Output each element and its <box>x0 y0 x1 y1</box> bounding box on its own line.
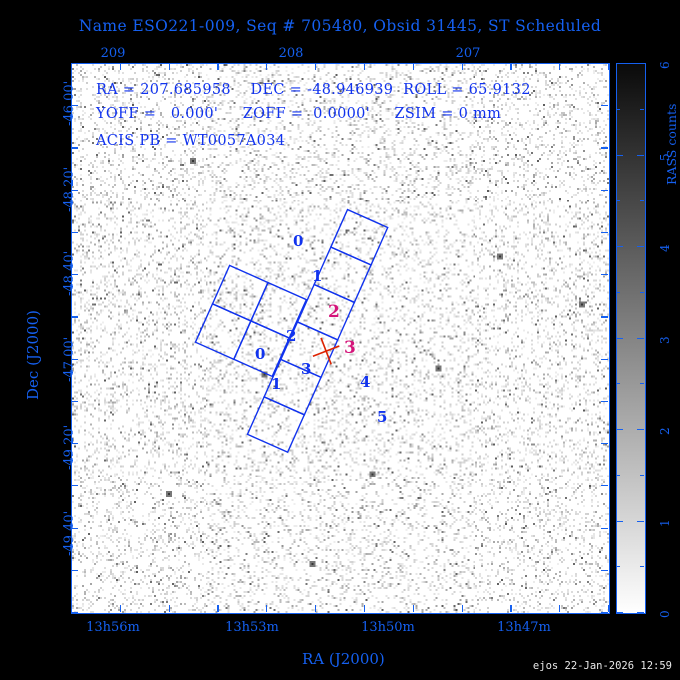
x-tick-top-minor <box>559 63 560 70</box>
colorbar-tick-label: 1 <box>658 519 672 527</box>
x-tick-minor <box>315 605 316 612</box>
y-tick-right-minor <box>601 232 608 233</box>
colorbar-tick-label: 3 <box>658 336 672 344</box>
x-tick-label: 13h50m <box>343 620 433 635</box>
colorbar-tick <box>637 155 644 156</box>
y-tick-minor <box>71 63 78 64</box>
x-top-tick-label: 207 <box>443 46 493 61</box>
x-tick-top-minor <box>315 63 316 70</box>
colorbar-tick-label: 6 <box>658 61 672 69</box>
y-tick-minor <box>71 232 78 233</box>
colorbar-tick <box>640 475 644 476</box>
y-axis-title: Dec (J2000) <box>24 310 42 400</box>
chip-label-s3: 3 <box>344 338 356 358</box>
y-tick-label: -48 40' <box>62 251 77 296</box>
colorbar-tick <box>616 200 620 201</box>
footer-credit: ejos 22-Jan-2026 12:59 <box>533 660 672 672</box>
chip-label-i2: 2 <box>286 327 296 345</box>
colorbar-tick-label: 0 <box>658 610 672 618</box>
x-tick-minor <box>169 605 170 612</box>
y-tick-right-minor <box>601 274 608 275</box>
colorbar-tick <box>640 109 644 110</box>
colorbar-tick <box>637 521 644 522</box>
colorbar-tick <box>640 292 644 293</box>
param-line-offsets: YOFF = 0.000' ZOFF = 0.0000' ZSIM = 0 mm <box>96 106 501 122</box>
colorbar-tick <box>616 383 620 384</box>
colorbar-tick <box>637 63 644 64</box>
y-tick-right-minor <box>601 401 608 402</box>
x-tick-minor <box>608 605 609 612</box>
x-tick-top-minor <box>169 63 170 70</box>
colorbar-tick <box>637 338 644 339</box>
colorbar-tick <box>616 292 620 293</box>
x-tick-top-minor <box>364 63 365 70</box>
y-tick-label: -46 00' <box>62 81 77 126</box>
colorbar-tick <box>616 109 620 110</box>
x-tick-label: 13h53m <box>207 620 297 635</box>
colorbar-tick <box>637 612 644 613</box>
x-tick-minor <box>266 605 267 612</box>
x-axis-title: RA (J2000) <box>302 650 385 668</box>
y-tick-minor <box>71 612 78 613</box>
x-tick-minor <box>120 605 121 612</box>
y-tick-label: -47 00' <box>62 337 77 382</box>
y-tick-minor <box>71 401 78 402</box>
y-tick-right-minor <box>601 63 608 64</box>
y-tick-label: -48 20' <box>62 167 77 212</box>
y-tick-right-minor <box>601 316 608 317</box>
x-tick-top-minor <box>510 63 511 70</box>
y-tick-right-minor <box>601 570 608 571</box>
chip-label-s1: 1 <box>312 267 322 285</box>
chip-label-i3: 3 <box>301 360 311 378</box>
y-tick-minor <box>71 147 78 148</box>
x-tick-minor <box>510 605 511 612</box>
colorbar-tick <box>637 429 644 430</box>
x-tick-top-minor <box>608 63 609 70</box>
x-tick-minor <box>413 605 414 612</box>
y-tick-right-minor <box>601 359 608 360</box>
x-top-tick-label: 208 <box>266 46 316 61</box>
chip-label-i1: 1 <box>271 375 281 393</box>
chip-label-s4: 4 <box>360 373 370 391</box>
y-tick-minor <box>71 570 78 571</box>
y-tick-label: -49 20' <box>62 425 77 470</box>
x-tick-minor <box>462 605 463 612</box>
colorbar-tick <box>616 246 623 247</box>
y-tick-right-minor <box>601 147 608 148</box>
chip-label-s5: 5 <box>377 408 387 426</box>
colorbar-tick <box>616 612 623 613</box>
y-tick-right-minor <box>601 443 608 444</box>
x-top-tick-label: 209 <box>88 46 138 61</box>
y-tick-minor <box>71 316 78 317</box>
x-tick-label: 13h56m <box>68 620 158 635</box>
y-tick-right-minor <box>601 105 608 106</box>
colorbar-tick <box>640 200 644 201</box>
x-tick-top-minor <box>217 63 218 70</box>
y-tick-right-minor <box>601 612 608 613</box>
colorbar-tick <box>616 338 623 339</box>
chip-label-s0: 0 <box>293 232 303 250</box>
x-tick-minor <box>559 605 560 612</box>
x-tick-top-minor <box>413 63 414 70</box>
colorbar-tick <box>640 383 644 384</box>
param-line-ra-dec-roll: RA = 207.685958 DEC = -48.946939 ROLL = … <box>96 82 531 98</box>
y-tick-right-minor <box>601 485 608 486</box>
observation-visibility-plot: Name ESO221-009, Seq # 705480, Obsid 314… <box>0 0 680 680</box>
colorbar-tick <box>616 429 623 430</box>
colorbar-title: RASS counts <box>664 104 679 185</box>
chip-label-s2: 2 <box>328 302 340 322</box>
x-tick-minor <box>71 605 72 612</box>
y-tick-label: -49 40' <box>62 511 77 556</box>
x-tick-top-minor <box>266 63 267 70</box>
x-tick-top-minor <box>120 63 121 70</box>
colorbar-tick <box>616 63 623 64</box>
colorbar-tick <box>637 246 644 247</box>
colorbar-tick <box>616 155 623 156</box>
x-tick-minor <box>364 605 365 612</box>
colorbar-tick <box>640 566 644 567</box>
page-title: Name ESO221-009, Seq # 705480, Obsid 314… <box>0 17 680 35</box>
colorbar-tick <box>616 521 623 522</box>
x-tick-label: 13h47m <box>479 620 569 635</box>
colorbar-tick-label: 2 <box>658 427 672 435</box>
colorbar-tick-label: 4 <box>658 244 672 252</box>
colorbar-tick <box>616 475 620 476</box>
chip-label-i0: 0 <box>255 345 265 363</box>
y-tick-minor <box>71 485 78 486</box>
x-tick-top-minor <box>462 63 463 70</box>
param-line-acis-pb: ACIS PB = WT0057A034 <box>96 133 285 149</box>
colorbar-tick <box>616 566 620 567</box>
y-tick-right-minor <box>601 190 608 191</box>
x-tick-minor <box>217 605 218 612</box>
y-tick-right-minor <box>601 528 608 529</box>
